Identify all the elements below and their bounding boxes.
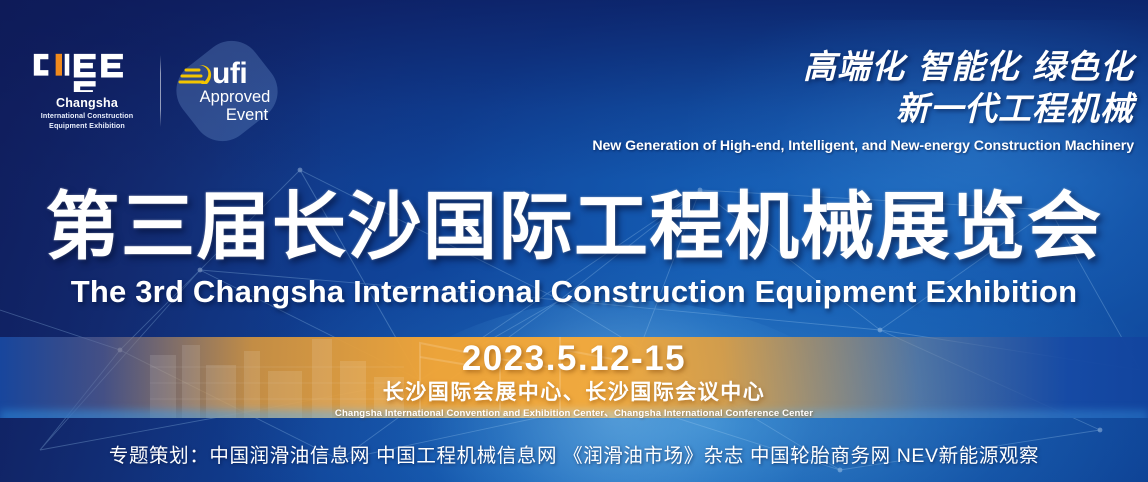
main-title-english: The 3rd Changsha International Construct… <box>0 274 1148 310</box>
ufi-approved-event-logo: ufi Approved Event <box>177 48 287 134</box>
ufi-approved-text: Approved <box>183 88 287 106</box>
cicee-logo-icon <box>32 52 143 92</box>
slogan-english: New Generation of High-end, Intelligent,… <box>592 136 1134 156</box>
event-venue-chinese: 长沙国际会展中心、长沙国际会议中心 <box>0 380 1148 406</box>
event-date-venue-block: 2023.5.12-15 长沙国际会展中心、长沙国际会议中心 Changsha … <box>0 339 1148 420</box>
ufi-swoosh-icon <box>177 62 215 88</box>
event-venue-english: Changsha International Convention and Ex… <box>0 407 1148 420</box>
ufi-wordmark-row: ufi <box>177 54 287 88</box>
sponsor-credits: 专题策划：中国润滑油信息网 中国工程机械信息网 《润滑油市场》杂志 中国轮胎商务… <box>0 443 1148 469</box>
slogan-line-1: 高端化 智能化 绿色化 <box>592 46 1134 88</box>
ufi-event-text: Event <box>195 106 299 124</box>
cicee-subtitle: International Construction Equipment Exh… <box>41 111 133 130</box>
slogan-block: 高端化 智能化 绿色化 新一代工程机械 New Generation of Hi… <box>592 46 1134 156</box>
banner-header: Changsha International Construction Equi… <box>0 0 1148 172</box>
cicee-subtitle-line1: International Construction <box>41 111 133 121</box>
ufi-wordmark: ufi <box>212 60 247 88</box>
cicee-name: Changsha <box>56 96 118 110</box>
logo-group: Changsha International Construction Equi… <box>28 48 287 134</box>
logo-divider <box>160 55 161 127</box>
exhibition-banner: Changsha International Construction Equi… <box>0 0 1148 482</box>
event-date: 2023.5.12-15 <box>0 339 1148 379</box>
main-title-chinese: 第三届长沙国际工程机械展览会 <box>0 184 1148 270</box>
cicee-logo: Changsha International Construction Equi… <box>28 52 146 130</box>
ufi-logo-content: ufi Approved Event <box>177 54 287 124</box>
slogan-line-2: 新一代工程机械 <box>592 88 1134 130</box>
cicee-subtitle-line2: Equipment Exhibition <box>41 121 133 131</box>
